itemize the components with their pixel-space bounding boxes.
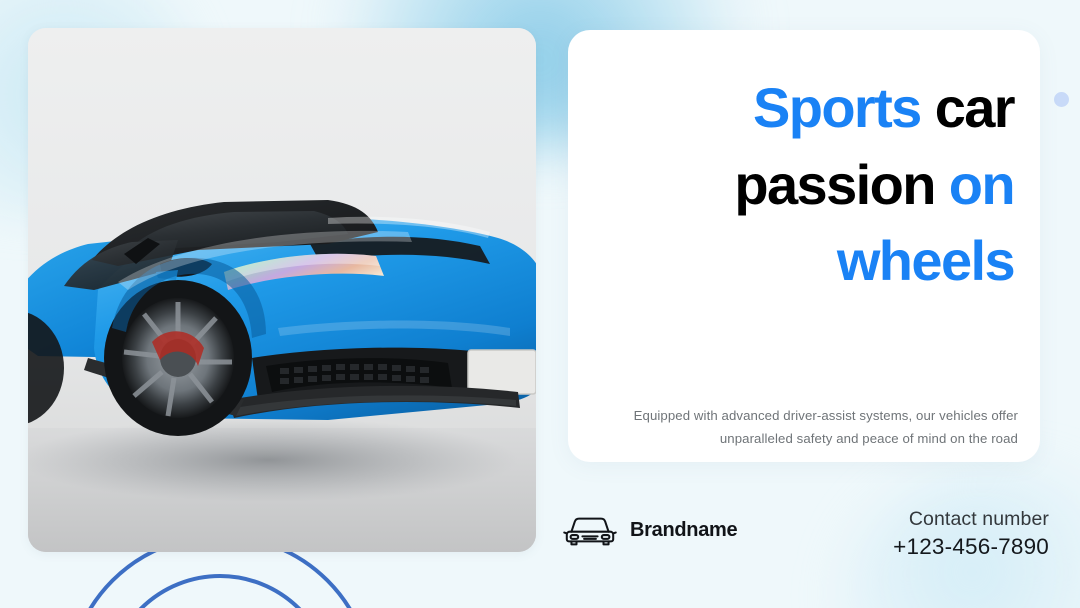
car-front-icon (563, 513, 617, 547)
headline-word-car: car (935, 76, 1014, 139)
headline-line-3: wheels (596, 223, 1014, 300)
headline-line-1: Sports car (596, 70, 1014, 147)
headline-word-sports: Sports (753, 76, 921, 139)
contact-block: Contact number +123-456-7890 (893, 506, 1049, 563)
car-photo (28, 28, 536, 552)
headline-word-on: on (949, 153, 1014, 216)
hero-text-card: Sports car passion on wheels Equipped wi… (568, 30, 1040, 462)
accent-dot-right (1054, 92, 1069, 107)
contact-label: Contact number (893, 506, 1049, 532)
body-paragraph: Equipped with advanced driver-assist sys… (624, 405, 1018, 450)
contact-number[interactable]: +123-456-7890 (893, 532, 1049, 562)
headline-word-wheels: wheels (837, 229, 1014, 292)
brand-logo[interactable]: Brandname (563, 513, 737, 547)
page-title: Sports car passion on wheels (596, 70, 1014, 300)
headline-line-2: passion on (596, 147, 1014, 224)
brand-name: Brandname (630, 519, 737, 542)
headline-word-passion: passion (734, 153, 934, 216)
